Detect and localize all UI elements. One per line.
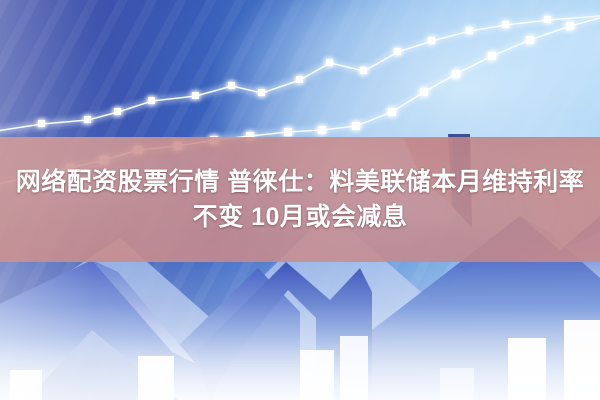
headline-line-1: 网络配资股票行情 普徕仕：料美联储本月维持利率 — [16, 165, 584, 200]
banner-image: -50.02 -02.36 -11.25 -50.02 -02.36 21.08… — [0, 0, 600, 400]
headline-line-2: 不变 10月或会减息 — [193, 200, 408, 235]
headline-band: 网络配资股票行情 普徕仕：料美联储本月维持利率 不变 10月或会减息 — [0, 137, 600, 262]
